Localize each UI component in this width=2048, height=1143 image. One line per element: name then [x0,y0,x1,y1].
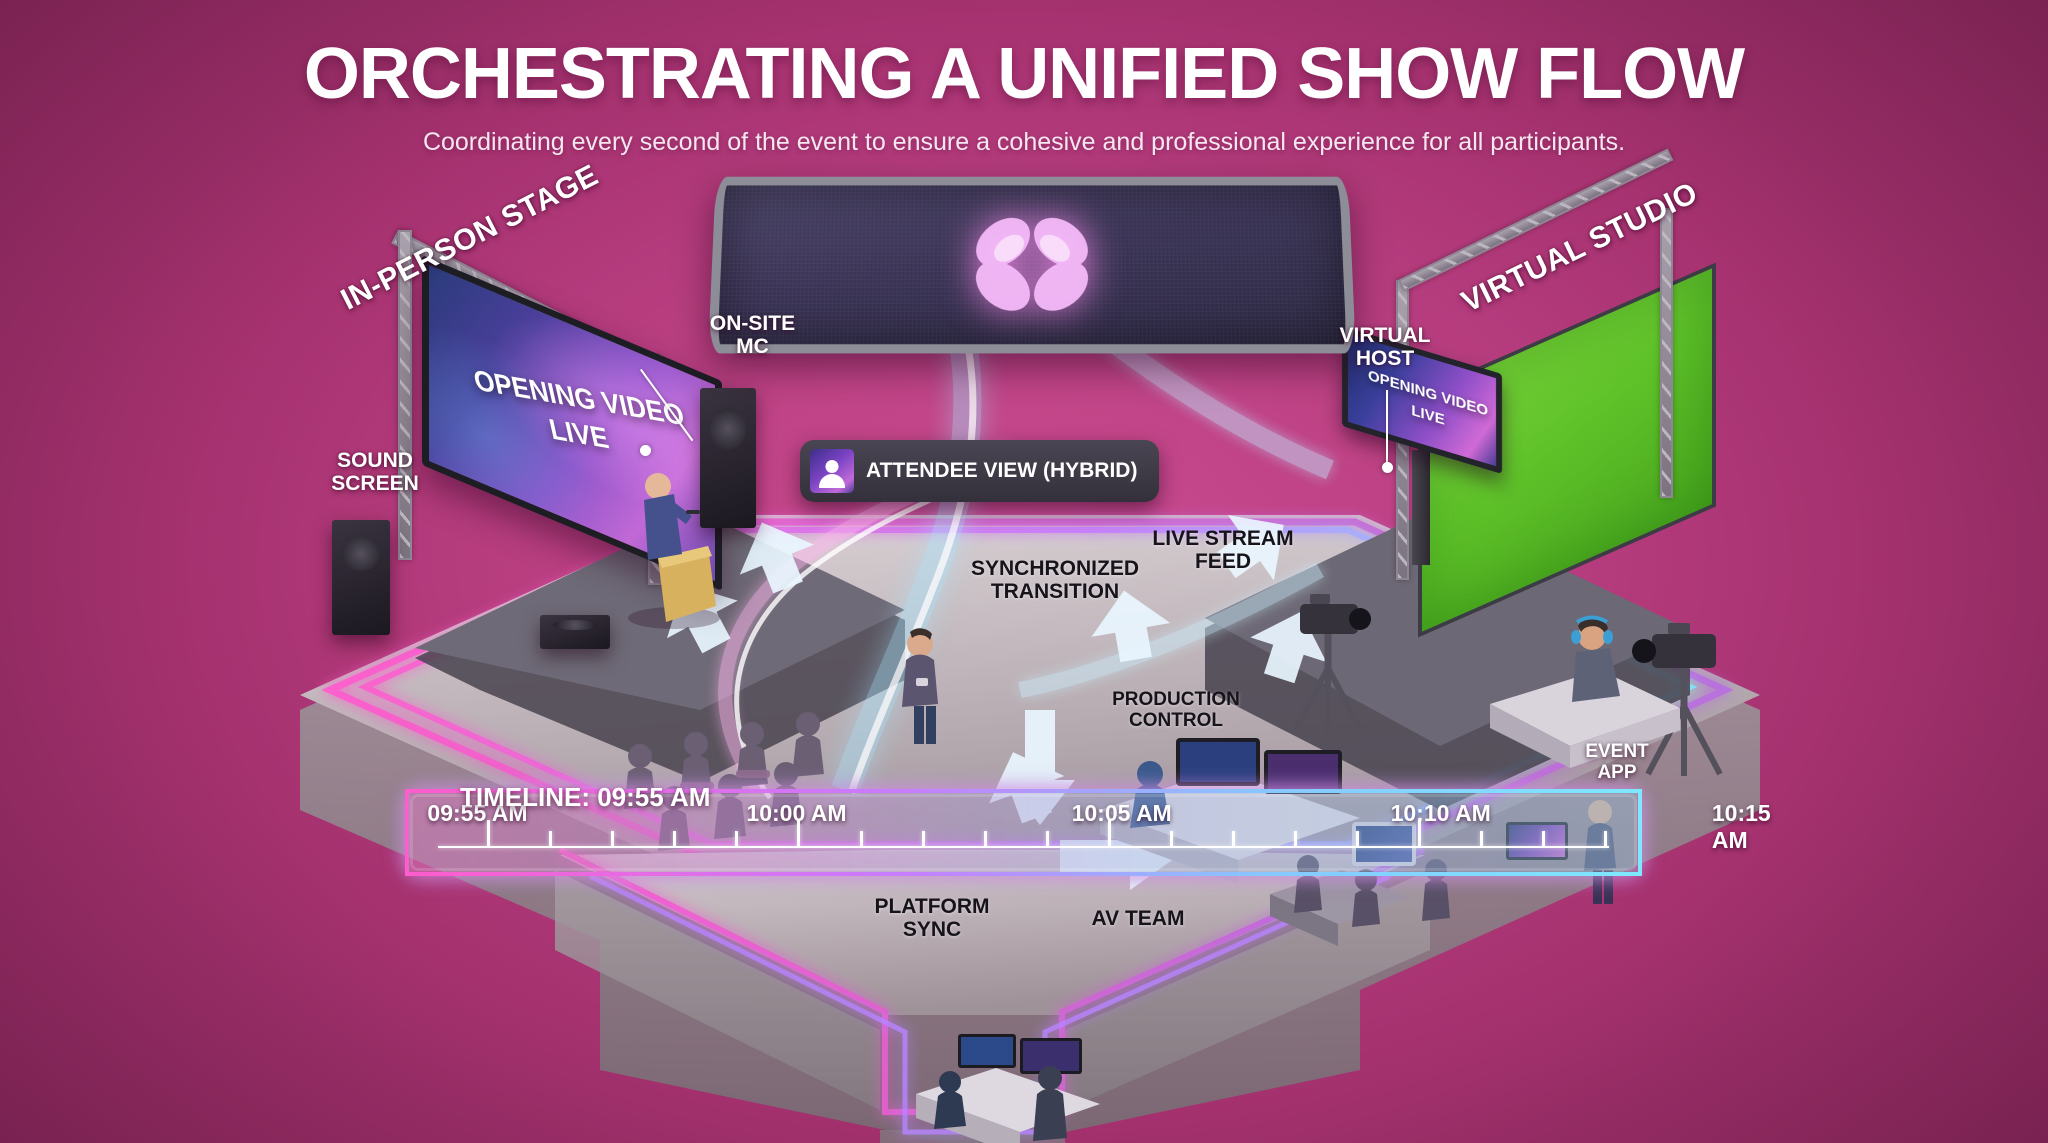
timeline-tick [1356,831,1359,846]
label-event-app: EVENT APP [1552,742,1682,783]
person-avatar-icon [810,449,854,493]
timeline-tick [487,820,490,846]
label-sound-screen: SOUND SCREEN [310,450,440,495]
timeline-tick [1232,831,1235,846]
avatar-body [819,474,845,488]
infographic-canvas: ORCHESTRATING A UNIFIED SHOW FLOW Coordi… [0,0,2048,1143]
timeline-tick [549,831,552,846]
avatar-head [826,460,839,473]
timeline-tick [1418,820,1421,846]
timeline-tick [1108,820,1111,846]
label-on-site-mc: ON-SITE MC [690,313,815,358]
timeline-ticks [438,820,1609,846]
timeline-tick [735,831,738,846]
leader-line-virtual-host [1386,390,1388,468]
isometric-scene: OPENING VIDEO LIVE OPENING VIDEO LIVE [0,150,2048,1143]
timeline-tick [860,831,863,846]
page-subtitle: Coordinating every second of the event t… [0,128,2048,157]
timeline-tick [611,831,614,846]
av-team-desk [900,1020,1160,1143]
timeline-tick [797,820,800,846]
timeline-tick [1480,831,1483,846]
leader-dot-on-site-mc [640,445,651,456]
label-av-team: AV TEAM [1068,908,1208,931]
timeline-axis [438,846,1609,848]
stage-speaker-stack-left [332,520,390,635]
header: ORCHESTRATING A UNIFIED SHOW FLOW Coordi… [0,0,2048,157]
timeline-time-label: 10:15 AM [1712,800,1771,854]
timeline-tick [984,831,987,846]
label-production-control: PRODUCTION CONTROL [1086,690,1266,731]
butterfly-logo-icon [936,205,1128,324]
timeline-tick [1294,831,1297,846]
timeline-heading: TIMELINE: 09:55 AM [460,782,710,813]
attendee-figure [880,620,960,750]
label-live-stream-feed: LIVE STREAM FEED [1118,528,1328,573]
timeline-tick [673,831,676,846]
timeline-tick [922,831,925,846]
timeline-tick [1170,831,1173,846]
timeline-tick [1542,831,1545,846]
page-title: ORCHESTRATING A UNIFIED SHOW FLOW [0,38,2048,110]
on-site-mc-figure [600,450,780,630]
label-virtual-host: VIRTUAL HOST [1320,325,1450,370]
timeline-tick [1604,831,1607,846]
label-platform-sync: PLATFORM SYNC [842,896,1022,941]
timeline-tick [1046,831,1049,846]
leader-dot-virtual-host [1382,462,1393,473]
attendee-view-badge[interactable]: ATTENDEE VIEW (HYBRID) [800,440,1159,502]
studio-truss-vertical-right [1660,208,1673,498]
studio-monitor-stand [1412,450,1430,565]
attendee-view-badge-text: ATTENDEE VIEW (HYBRID) [866,459,1137,483]
